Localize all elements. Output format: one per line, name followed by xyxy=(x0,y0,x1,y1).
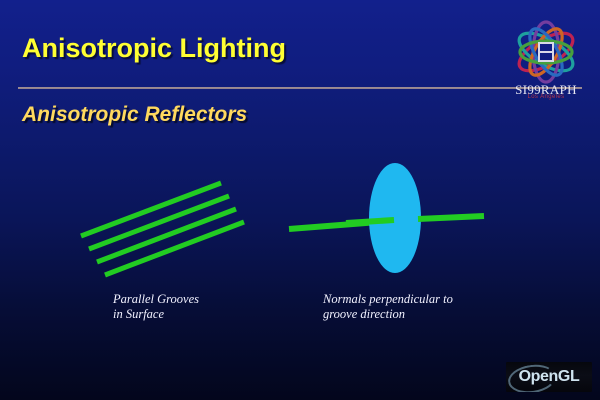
siggraph-city-label: Los Angeles xyxy=(498,94,594,100)
section-subtitle: Anisotropic Reflectors xyxy=(22,103,247,127)
caption-surface-normals: Normals perpendicular to groove directio… xyxy=(323,292,453,322)
opengl-logo: OpenGL xyxy=(506,362,592,392)
slide-canvas: Anisotropic Lighting Anisotropic Reflect… xyxy=(0,0,600,400)
page-title: Anisotropic Lighting xyxy=(22,33,286,64)
opengl-label: OpenGL xyxy=(506,362,592,392)
caption-parallel-grooves: Parallel Grooves in Surface xyxy=(113,292,199,322)
